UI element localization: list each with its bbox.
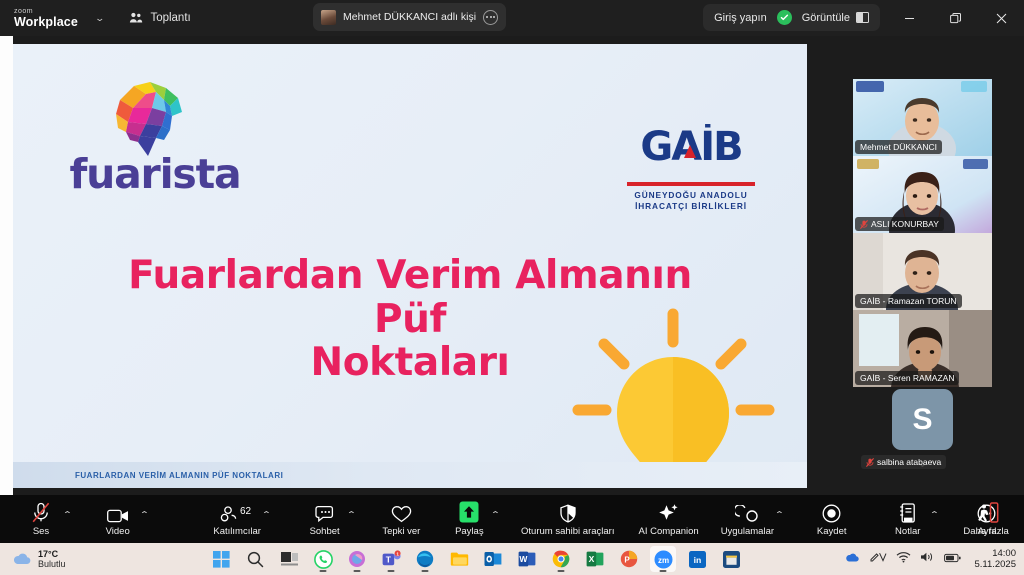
running-indicator bbox=[422, 570, 429, 572]
tab-overflow-icon[interactable] bbox=[483, 10, 498, 25]
participant-tile[interactable]: Mehmet DÜKKANCI bbox=[853, 79, 992, 156]
running-indicator bbox=[354, 570, 361, 572]
participant-name-tag: ASLI KONURBAY bbox=[855, 217, 944, 231]
store-icon[interactable] bbox=[718, 546, 744, 572]
toolbar-apps-button[interactable]: Uygulamalar bbox=[721, 502, 774, 537]
ai-sparkle-icon bbox=[658, 502, 679, 523]
close-button[interactable] bbox=[978, 0, 1024, 36]
chevron-up-icon-chat[interactable]: ⌃ bbox=[346, 510, 356, 519]
toolbar-video-button[interactable]: Video bbox=[97, 502, 139, 537]
leave-meeting-icon bbox=[975, 502, 999, 523]
toolbar-host-tools-label: Oturum sahibi araçları bbox=[521, 526, 614, 537]
toolbar-record-button[interactable]: Kaydet bbox=[811, 502, 853, 537]
battery-icon[interactable] bbox=[944, 550, 961, 568]
participant-name-tag: salbina atabaeva bbox=[861, 455, 946, 469]
participant-name: ASLI KONURBAY bbox=[871, 219, 939, 229]
running-indicator bbox=[388, 570, 395, 572]
gaib-logo: GAİB GÜNEYDOĞU ANADOLU İHRACATÇI BİRLİKL… bbox=[616, 124, 766, 211]
lightbulb-icon bbox=[561, 302, 791, 488]
gaib-line1: GÜNEYDOĞU ANADOLU bbox=[616, 190, 766, 201]
windows-start-icon[interactable] bbox=[208, 546, 234, 572]
svg-text:1: 1 bbox=[396, 551, 399, 556]
taskbar-app-icons: T1 W X P bbox=[208, 543, 744, 575]
clock-time: 14:00 bbox=[974, 548, 1016, 559]
view-layout-button[interactable]: Görüntüle bbox=[802, 12, 869, 24]
participant-name: GAİB - Ramazan TORUN bbox=[860, 296, 957, 306]
host-tools-shield-icon bbox=[559, 502, 577, 523]
participant-tile[interactable]: GAİB - Seren RAMAZAN bbox=[853, 310, 992, 387]
participant-name: GAİB - Seren RAMAZAN bbox=[860, 373, 954, 383]
svg-text:zm: zm bbox=[657, 555, 668, 564]
chevron-up-icon-participants[interactable]: ⌃ bbox=[261, 510, 271, 519]
share-screen-icon bbox=[455, 502, 483, 523]
chevron-down-icon[interactable]: ⌄ bbox=[94, 13, 105, 24]
tab-active-meeting[interactable]: Mehmet DÜKKANCI adlı kişinin el bbox=[313, 3, 506, 31]
toolbar-host-tools-button[interactable]: Oturum sahibi araçları bbox=[521, 502, 614, 537]
fuarista-brain-icon bbox=[100, 72, 190, 158]
toolbar-audio-label: Ses bbox=[33, 526, 49, 537]
microphone-muted-icon bbox=[860, 220, 868, 229]
record-icon bbox=[822, 502, 841, 523]
taskbar-clock[interactable]: 14:00 5.11.2025 bbox=[974, 548, 1016, 571]
toolbar-notes-button[interactable]: Notlar bbox=[887, 502, 929, 537]
notes-icon bbox=[899, 502, 916, 523]
weather-cloud-icon bbox=[12, 552, 32, 566]
fuarista-wordmark: fuarista bbox=[55, 150, 255, 198]
system-tray: 14:00 5.11.2025 bbox=[845, 543, 1016, 575]
toolbar-record-label: Kaydet bbox=[817, 526, 847, 537]
toolbar-chat-label: Sohbet bbox=[310, 526, 340, 537]
svg-text:P: P bbox=[624, 555, 630, 564]
slide-footer-text: FUARLARDAN VERİM ALMANIN PÜF NOKTALARI bbox=[75, 471, 283, 480]
wifi-icon[interactable] bbox=[896, 550, 911, 568]
toolbar-leave-button[interactable]: Ayrıl bbox=[966, 502, 1008, 537]
running-indicator bbox=[320, 570, 327, 572]
toolbar-reactions-label: Tepki ver bbox=[382, 526, 420, 537]
minimize-button[interactable] bbox=[886, 0, 932, 36]
layout-grid-icon bbox=[856, 12, 869, 23]
meeting-menu-button[interactable]: Toplantı bbox=[129, 12, 190, 24]
apps-icon bbox=[735, 502, 759, 523]
participants-icon: 62 bbox=[220, 502, 254, 523]
weather-cloud-icon[interactable] bbox=[845, 550, 860, 568]
brand-top-label: zoom bbox=[14, 8, 78, 15]
zoom-meeting-window: zoom Workplace ⌄ Toplantı Mehmet DÜKKANC… bbox=[0, 0, 1024, 575]
windows-taskbar: 17°C Bulutlu bbox=[0, 543, 1024, 575]
participant-name: salbina atabaeva bbox=[877, 457, 941, 467]
pen-icon[interactable] bbox=[869, 550, 887, 568]
toolbar-share-label: Paylaş bbox=[455, 526, 484, 537]
zoom-workplace-brand: zoom Workplace bbox=[14, 8, 78, 29]
copilot-icon[interactable] bbox=[344, 546, 370, 572]
edge-icon[interactable] bbox=[412, 546, 438, 572]
meeting-toolbar: Ses ⌃ Video ⌃ bbox=[0, 495, 1024, 543]
chevron-up-icon-notes[interactable]: ⌃ bbox=[929, 510, 939, 519]
participants-icon bbox=[129, 12, 143, 24]
participant-name-tag: GAİB - Seren RAMAZAN bbox=[855, 371, 959, 385]
meeting-menu-label: Toplantı bbox=[150, 12, 190, 24]
svg-text:62: 62 bbox=[240, 506, 252, 517]
linkedin-icon[interactable]: in bbox=[684, 546, 710, 572]
meeting-stage: fuarista GAİB GÜNEYDOĞU ANADOLU İHRACATÇ… bbox=[0, 36, 1024, 495]
toolbar-audio-button[interactable]: Ses bbox=[20, 502, 62, 537]
excel-icon[interactable]: X bbox=[582, 546, 608, 572]
toolbar-ai-companion-button[interactable]: AI Companion bbox=[638, 502, 698, 537]
clock-date: 5.11.2025 bbox=[974, 559, 1016, 570]
chevron-up-icon-apps[interactable]: ⌃ bbox=[774, 510, 784, 519]
task-view-icon[interactable] bbox=[276, 546, 302, 572]
participant-name-tag: GAİB - Ramazan TORUN bbox=[855, 294, 962, 308]
brand-main-label: Workplace bbox=[14, 16, 78, 29]
file-explorer-icon[interactable] bbox=[446, 546, 472, 572]
svg-text:GAİB: GAİB bbox=[640, 124, 741, 170]
volume-icon[interactable] bbox=[920, 550, 935, 568]
weather-temperature: 17°C bbox=[38, 549, 66, 559]
word-icon[interactable]: W bbox=[514, 546, 540, 572]
shared-presentation-slide: fuarista GAİB GÜNEYDOĞU ANADOLU İHRACATÇ… bbox=[13, 44, 807, 488]
maximize-restore-button[interactable] bbox=[932, 0, 978, 36]
heart-icon bbox=[391, 502, 412, 523]
participant-name-tag: Mehmet DÜKKANCI bbox=[855, 140, 942, 154]
weather-description: Bulutlu bbox=[38, 559, 66, 569]
toolbar-notes-label: Notlar bbox=[895, 526, 920, 537]
camera-icon bbox=[107, 502, 129, 523]
toolbar-reactions-button[interactable]: Tepki ver bbox=[380, 502, 422, 537]
chat-icon bbox=[315, 502, 335, 523]
slide-title-line1: Fuarlardan Verim Almanın bbox=[128, 253, 692, 298]
title-bar: zoom Workplace ⌄ Toplantı Mehmet DÜKKANC… bbox=[0, 0, 1024, 36]
microphone-muted-icon bbox=[32, 502, 50, 523]
toolbar-apps-label: Uygulamalar bbox=[721, 526, 774, 537]
chevron-up-icon-video[interactable]: ⌃ bbox=[139, 510, 149, 519]
zoom-icon[interactable]: zm bbox=[650, 546, 676, 572]
view-label: Görüntüle bbox=[802, 12, 850, 24]
microphone-muted-icon bbox=[866, 458, 874, 467]
taskbar-weather-widget[interactable]: 17°C Bulutlu bbox=[12, 549, 66, 570]
toolbar-participants-label: Katılımcılar bbox=[213, 526, 261, 537]
security-shield-icon[interactable] bbox=[777, 10, 792, 25]
teams-icon[interactable]: T1 bbox=[378, 546, 404, 572]
shared-screen-left-edge bbox=[0, 36, 13, 495]
chevron-up-icon-share[interactable]: ⌃ bbox=[491, 510, 501, 519]
tab-avatar-thumbnail bbox=[321, 10, 336, 25]
toolbar-chat-button[interactable]: Sohbet bbox=[304, 502, 346, 537]
chevron-up-icon-audio[interactable]: ⌃ bbox=[62, 510, 72, 519]
toolbar-video-label: Video bbox=[106, 526, 130, 537]
tab-label: Mehmet DÜKKANCI adlı kişinin el bbox=[343, 11, 476, 23]
search-icon[interactable] bbox=[242, 546, 268, 572]
participant-tile[interactable]: GAİB - Ramazan TORUN bbox=[853, 233, 992, 310]
gaib-line2: İHRACATÇI BİRLİKLERİ bbox=[616, 201, 766, 212]
svg-text:T: T bbox=[385, 554, 391, 564]
running-indicator bbox=[660, 570, 667, 572]
toolbar-leave-label: Ayrıl bbox=[978, 526, 997, 537]
titlebar-right-group: Giriş yapın Görüntüle bbox=[703, 4, 880, 31]
gaib-wordmark: GAİB bbox=[616, 124, 766, 177]
powerpoint-icon[interactable]: P bbox=[616, 546, 642, 572]
svg-text:X: X bbox=[589, 554, 595, 564]
avatar: S bbox=[892, 389, 953, 450]
toolbar-share-button[interactable]: Paylaş bbox=[448, 502, 490, 537]
participant-filmstrip: Mehmet DÜKKANCI bbox=[853, 79, 992, 497]
window-controls bbox=[886, 0, 1024, 36]
participant-tile-avatar[interactable]: S salbina atabaeva ⌄ bbox=[853, 387, 992, 497]
slide-footer-strip: FUARLARDAN VERİM ALMANIN PÜF NOKTALARI bbox=[13, 462, 807, 488]
participant-tile[interactable]: ASLI KONURBAY bbox=[853, 156, 992, 233]
toolbar-participants-button[interactable]: 62 Katılımcılar bbox=[213, 502, 261, 537]
svg-text:in: in bbox=[693, 555, 701, 565]
chrome-icon[interactable] bbox=[548, 546, 574, 572]
whatsapp-icon[interactable] bbox=[310, 546, 336, 572]
svg-text:W: W bbox=[519, 554, 528, 564]
running-indicator bbox=[558, 570, 565, 572]
gaib-red-divider bbox=[627, 182, 755, 186]
toolbar-ai-companion-label: AI Companion bbox=[638, 526, 698, 537]
participant-name: Mehmet DÜKKANCI bbox=[860, 142, 937, 152]
sign-in-button[interactable]: Giriş yapın bbox=[714, 12, 767, 24]
outlook-icon[interactable] bbox=[480, 546, 506, 572]
